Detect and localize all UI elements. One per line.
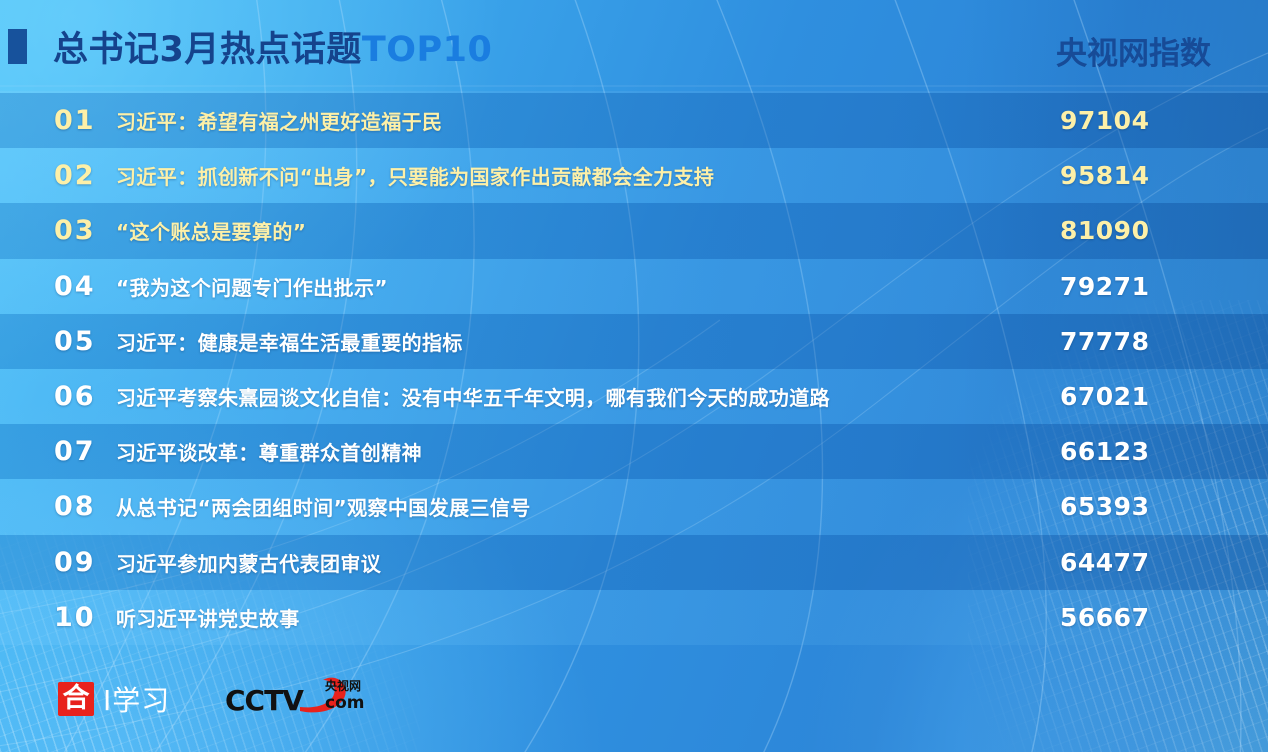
rank-number: 07 — [54, 436, 116, 467]
cctv-logo-svg: CCTV 央视网 com — [225, 674, 365, 720]
rank-number: 08 — [54, 491, 116, 522]
page-title-accent: TOP10 — [362, 30, 493, 70]
page-title-main: 总书记3月热点话题 — [53, 30, 362, 70]
cctv-wordmark-text: CCTV — [225, 684, 304, 717]
rank-number: 03 — [54, 215, 116, 246]
list-item[interactable]: 10 听习近平讲党史故事 56667 — [0, 590, 1268, 645]
rank-number: 06 — [54, 381, 116, 412]
rank-number: 09 — [54, 547, 116, 578]
index-column-header: 央视网指数 — [1056, 28, 1211, 73]
rank-number: 01 — [54, 105, 116, 136]
index-value: 67021 — [1060, 382, 1268, 411]
xuexi-badge-icon: 合 — [58, 682, 94, 716]
index-value: 77778 — [1060, 327, 1268, 356]
list-item[interactable]: 04 “我为这个问题专门作出批示” 79271 — [0, 259, 1268, 314]
list-item[interactable]: 08 从总书记“两会团组时间”观察中国发展三信号 65393 — [0, 479, 1268, 534]
list-item[interactable]: 02 习近平：抓创新不问“出身”，只要能为国家作出贡献都会全力支持 95814 — [0, 148, 1268, 203]
list-item[interactable]: 09 习近平参加内蒙古代表团审议 64477 — [0, 535, 1268, 590]
index-value: 95814 — [1060, 161, 1268, 190]
xuexi-logo[interactable]: 合 I学习 — [58, 679, 170, 719]
page-footer: 合 I学习 CCTV 央视网 com CCTV — [0, 645, 1268, 752]
topic-list: 01 习近平：希望有福之州更好造福于民 97104 02 习近平：抓创新不问“出… — [0, 93, 1268, 645]
page-title: 总书记3月热点话题TOP10 — [53, 21, 492, 72]
xuexi-logo-label: I学习 — [103, 679, 170, 719]
index-value: 64477 — [1060, 548, 1268, 577]
list-item[interactable]: 07 习近平谈改革：尊重群众首创精神 66123 — [0, 424, 1268, 479]
header-square-mark — [8, 29, 27, 64]
rank-number: 05 — [54, 326, 116, 357]
rank-number: 04 — [54, 271, 116, 302]
rank-number: 02 — [54, 160, 116, 191]
list-item[interactable]: 05 习近平：健康是幸福生活最重要的指标 77778 — [0, 314, 1268, 369]
list-item[interactable]: 03 “这个账总是要算的” 81090 — [0, 203, 1268, 258]
rank-number: 10 — [54, 602, 116, 633]
index-value: 81090 — [1060, 216, 1268, 245]
xuexi-badge-glyph: 合 — [58, 682, 94, 716]
cctv-logo-graphic: CCTV 央视网 com — [225, 674, 365, 724]
index-value: 66123 — [1060, 437, 1268, 466]
page-header: 总书记3月热点话题TOP10 央视网指数 — [0, 0, 1268, 93]
list-item[interactable]: 01 习近平：希望有福之州更好造福于民 97104 — [0, 93, 1268, 148]
list-item[interactable]: 06 习近平考察朱熹园谈文化自信：没有中华五千年文明，哪有我们今天的成功道路 6… — [0, 369, 1268, 424]
cctv-logo[interactable]: CCTV 央视网 com CCTV 央视网 com — [225, 674, 365, 724]
cctv-domain-text: com — [325, 693, 364, 713]
cctv-cn-label-text: 央视网 — [325, 678, 361, 693]
index-value: 79271 — [1060, 272, 1268, 301]
index-value: 56667 — [1060, 603, 1268, 632]
index-value: 97104 — [1060, 106, 1268, 135]
index-value: 65393 — [1060, 492, 1268, 521]
